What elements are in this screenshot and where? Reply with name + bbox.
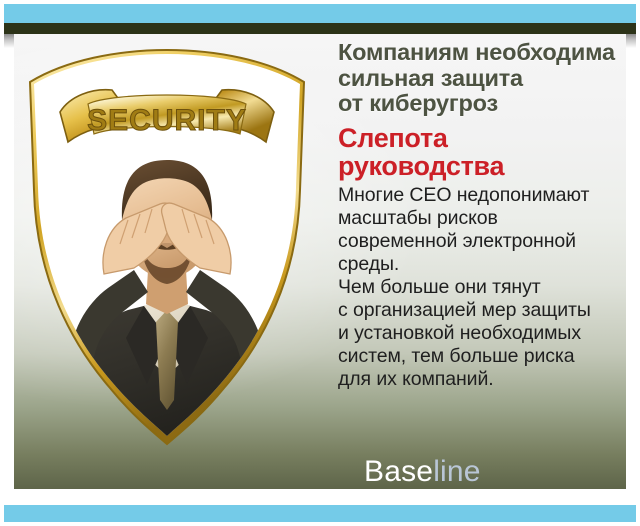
body-copy: Многие CEO недопонимают масштабы рисков … (338, 184, 630, 391)
subheadline: Слепота руководства (338, 124, 630, 180)
body-line-9: для их компаний. (338, 368, 630, 391)
frame-bottom-blue-bar (4, 505, 636, 522)
body-line-8: систем, тем больше риска (338, 345, 630, 368)
security-banner: SECURITY (60, 90, 274, 142)
body-line-7: и установкой необходимых (338, 322, 630, 345)
headline-line-1: Компаниям необходима (338, 40, 630, 66)
security-banner-text: SECURITY (87, 104, 247, 137)
subheadline-line-2: руководства (338, 152, 630, 180)
body-line-5: Чем больше они тянут (338, 276, 630, 299)
body-line-2: масштабы рисков (338, 207, 630, 230)
frame-bottom-white-strip (14, 489, 626, 506)
headline-line-2: сильная защита (338, 66, 630, 92)
frame-top-olive-bar (4, 23, 636, 34)
subheadline-line-1: Слепота (338, 124, 630, 152)
body-line-1: Многие CEO недопонимают (338, 184, 630, 207)
text-column: Компаниям необходима сильная защита от к… (338, 40, 630, 391)
body-line-4: среды. (338, 253, 630, 276)
logo-base-text: Base (364, 455, 433, 488)
logo-line-text: line (433, 455, 481, 488)
body-line-6: с организацией мер защиты (338, 299, 630, 322)
poster-canvas: SECURITY Компаниям необходима сильная за… (0, 0, 640, 526)
headline-line-3: от киберугроз (338, 91, 630, 117)
security-badge-image: SECURITY (8, 38, 326, 458)
baseline-logo[interactable]: Baseline (364, 456, 481, 488)
shield-badge-icon: SECURITY (8, 38, 326, 458)
frame-top-blue-bar (4, 4, 636, 23)
body-line-3: современной электронной (338, 230, 630, 253)
headline: Компаниям необходима сильная защита от к… (338, 40, 630, 117)
